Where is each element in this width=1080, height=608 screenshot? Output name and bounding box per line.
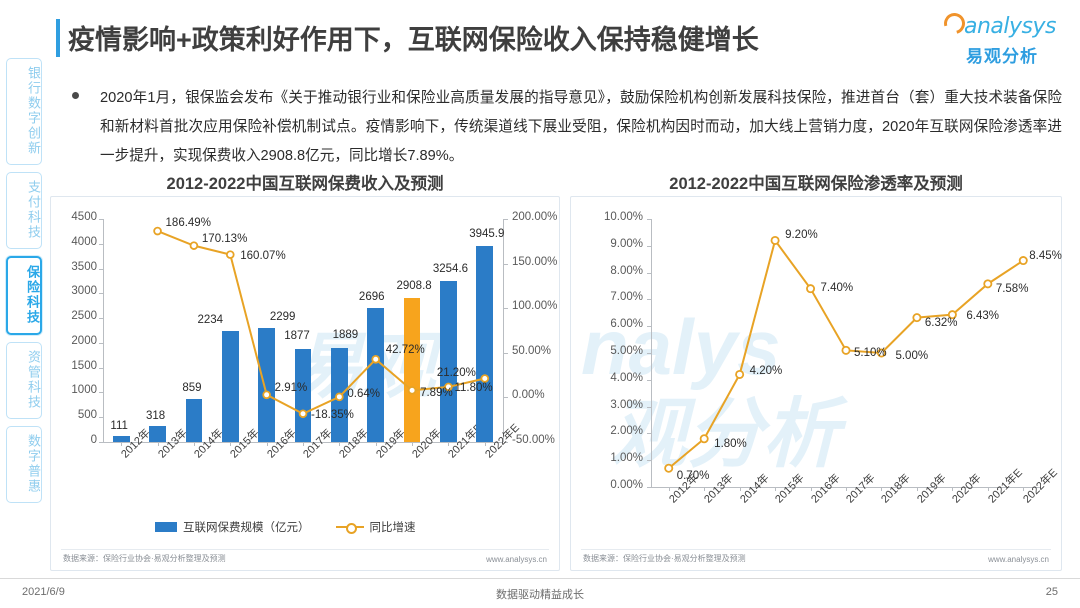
penetration-line-svg (571, 197, 1063, 572)
panel-divider (581, 549, 1051, 550)
legend-item-line: 同比增速 (336, 519, 416, 535)
sidebar-item-label: 银行数字创新 (7, 66, 41, 156)
penetration-chart-plot: 0.00%1.00%2.00%3.00%4.00%5.00%6.00%7.00%… (571, 197, 1063, 572)
growth-value-label: 2.91% (275, 382, 308, 394)
growth-value-label: 7.89% (420, 387, 453, 399)
bullet-dot-icon (72, 92, 79, 99)
growth-value-label: 170.13% (202, 233, 247, 245)
growth-value-label: 42.72% (386, 344, 425, 356)
growth-value-label: 11.80% (454, 382, 492, 394)
left-chart-source: 数据来源：保险行业协会·易观分析整理及预测 (63, 553, 226, 564)
panel-divider (61, 549, 549, 550)
sidebar-item-bank-digital-innovation[interactable]: 银行数字创新 (6, 58, 42, 165)
penetration-value-label: 7.40% (821, 282, 854, 294)
penetration-value-label: 6.43% (966, 310, 999, 322)
slide-header: 疫情影响+政策利好作用下，互联网保险收入保持稳健增长 analysys 易观分析 (0, 0, 1080, 72)
sidebar-item-label: 支付科技 (7, 180, 41, 240)
slide-footer: 2021/6/9 数据驱动精益成长 25 (0, 582, 1080, 608)
penetration-value-label: 5.00% (895, 350, 928, 362)
sidebar-item-label: 数字普惠 (7, 434, 41, 494)
left-chart-panel: 易观 050010001500200025003000350040004500-… (50, 196, 560, 571)
sidebar-item-insurance-tech[interactable]: 保险科技 (6, 256, 42, 335)
growth-value-label: 186.49% (166, 217, 211, 229)
growth-value-label: 0.64% (347, 388, 380, 400)
left-chart-legend: 互联网保费规模（亿元） 同比增速 (155, 519, 416, 535)
penetration-value-label: 9.20% (785, 229, 818, 241)
legend-swatch-bar-icon (155, 522, 177, 532)
sidebar-item-payment-tech[interactable]: 支付科技 (6, 172, 42, 249)
left-chart-url: www.analysys.cn (486, 555, 547, 564)
penetration-value-label: 8.45% (1029, 250, 1062, 262)
analysys-logo: analysys 易观分析 (942, 12, 1062, 64)
penetration-value-label: 4.20% (750, 365, 783, 377)
sidebar-item-label: 资管科技 (7, 350, 41, 410)
footer-divider (0, 578, 1080, 579)
growth-value-label: 21.20% (437, 367, 476, 379)
right-chart-source: 数据来源：保险行业协会·易观分析整理及预测 (583, 553, 746, 564)
page-title: 疫情影响+政策利好作用下，互联网保险收入保持稳健增长 (68, 18, 759, 57)
legend-item-bar: 互联网保费规模（亿元） (155, 519, 310, 535)
penetration-value-label: 5.10% (854, 347, 887, 359)
legend-label-line: 同比增速 (370, 519, 416, 535)
bullet-text: 2020年1月，银保监会发布《关于推动银行业和保险业高质量发展的指导意见》，鼓励… (100, 84, 1062, 171)
logo-chinese-text: 易观分析 (942, 42, 1062, 67)
sidebar-item-digital-inclusive-finance[interactable]: 数字普惠 (6, 426, 42, 503)
slide-page: 疫情影响+政策利好作用下，互联网保险收入保持稳健增长 analysys 易观分析… (0, 0, 1080, 608)
sidebar-item-asset-management-tech[interactable]: 资管科技 (6, 342, 42, 419)
penetration-value-label: 6.32% (925, 317, 958, 329)
penetration-value-label: 0.70% (677, 470, 710, 482)
bullet-paragraph-block: 2020年1月，银保监会发布《关于推动银行业和保险业高质量发展的指导意见》，鼓励… (72, 84, 1062, 171)
premium-chart-plot: 050010001500200025003000350040004500-50.… (51, 197, 561, 572)
right-chart-title: 2012-2022中国互联网保险渗透率及预测 (570, 170, 1062, 194)
sidebar-rail: 银行数字创新 支付科技 保险科技 资管科技 数字普惠 (6, 58, 44, 510)
penetration-value-label: 7.58% (996, 283, 1029, 295)
right-chart-panel: nalys 观分析 0.00%1.00%2.00%3.00%4.00%5.00%… (570, 196, 1062, 571)
penetration-value-label: 1.80% (714, 438, 747, 450)
left-chart-title: 2012-2022中国互联网保费收入及预测 (50, 170, 560, 194)
legend-line-marker-icon (336, 522, 364, 532)
footer-page-number: 25 (1046, 586, 1058, 598)
legend-label-bar: 互联网保费规模（亿元） (183, 519, 310, 535)
logo-wordmark: analysys (942, 12, 1062, 42)
growth-value-label: -18.35% (311, 409, 354, 421)
sidebar-item-label: 保险科技 (8, 265, 40, 325)
right-chart-url: www.analysys.cn (988, 555, 1049, 564)
logo-word-text: analysys (964, 14, 1056, 39)
title-accent-bar (56, 19, 60, 57)
footer-slogan: 数据驱动精益成长 (0, 586, 1080, 602)
growth-value-label: 160.07% (240, 250, 285, 262)
